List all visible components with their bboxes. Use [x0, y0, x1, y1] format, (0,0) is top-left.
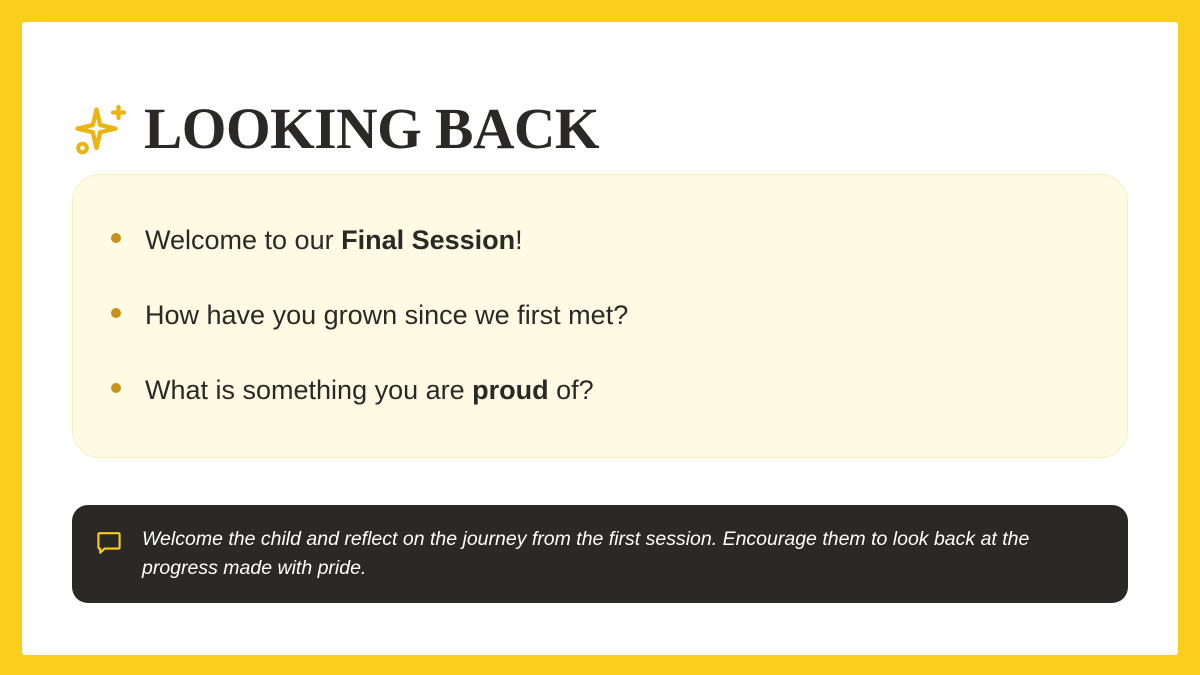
- bullet-dot-icon: [111, 308, 121, 318]
- list-item-text: How have you grown since we first met?: [145, 298, 628, 332]
- list-item: How have you grown since we first met?: [111, 298, 1087, 332]
- sparkle-icon: [72, 101, 130, 159]
- page-title: LOOKING BACK: [144, 100, 599, 158]
- bullet-dot-icon: [111, 233, 121, 243]
- bullets-card: Welcome to our Final Session! How have y…: [72, 174, 1128, 458]
- list-item: What is something you are proud of?: [111, 373, 1087, 407]
- facilitator-note-text: Welcome the child and reflect on the jou…: [142, 525, 1077, 583]
- list-item-text: Welcome to our Final Session!: [145, 223, 523, 257]
- slide: LOOKING BACK Welcome to our Final Sessio…: [0, 0, 1200, 675]
- bullet-list: Welcome to our Final Session! How have y…: [111, 223, 1087, 407]
- speech-bubble-icon: [96, 530, 122, 556]
- bullet-dot-icon: [111, 383, 121, 393]
- slide-content-area: LOOKING BACK Welcome to our Final Sessio…: [22, 22, 1178, 655]
- page-heading: LOOKING BACK: [72, 92, 604, 166]
- list-item: Welcome to our Final Session!: [111, 223, 1087, 257]
- list-item-text: What is something you are proud of?: [145, 373, 594, 407]
- facilitator-note-bar: Welcome the child and reflect on the jou…: [72, 505, 1128, 603]
